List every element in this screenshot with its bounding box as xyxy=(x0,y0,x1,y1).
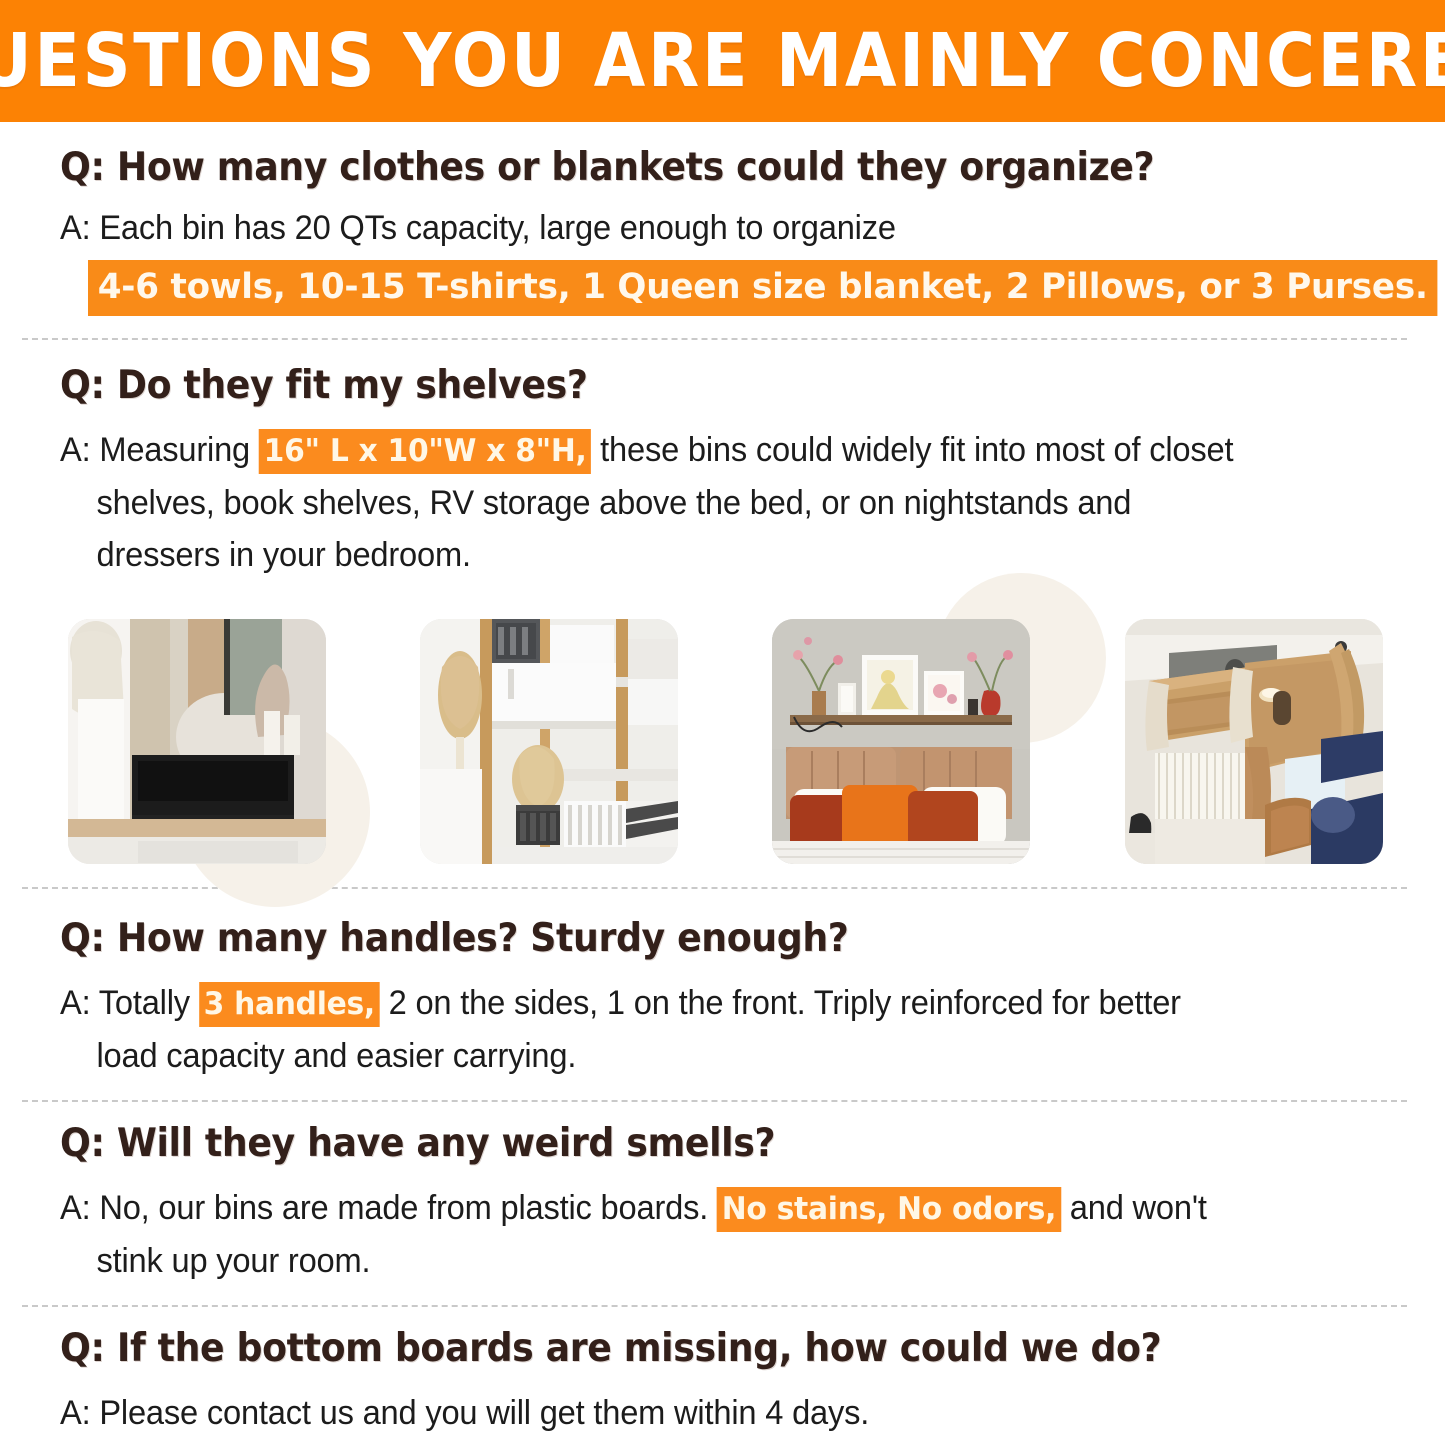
photo-bedroom-shelf-art xyxy=(772,619,1030,864)
faq-answer-shelves-post: these bins could widely fit into most of… xyxy=(591,431,1233,469)
faq-section-smells: Q: Will they have any weird smells? A: N… xyxy=(0,1120,1445,1287)
photo-bedroom-shelf xyxy=(772,619,1030,864)
photo-gallery xyxy=(0,597,1445,887)
faq-question-shelves: Q: Do they fit my shelves? xyxy=(60,362,1320,410)
faq-highlight-dimensions: 16" L x 10"W x 8"H, xyxy=(259,429,591,474)
faq-question-bottom-boards: Q: If the bottom boards are missing, how… xyxy=(60,1325,1320,1373)
faq-answer-shelves-line3: dressers in your bedroom. xyxy=(96,536,470,574)
faq-section-bottom-boards: Q: If the bottom boards are missing, how… xyxy=(0,1325,1445,1439)
photo-nightstand xyxy=(68,619,326,864)
faq-question-capacity: Q: How many clothes or blankets could th… xyxy=(60,144,1320,192)
faq-section-handles: Q: How many handles? Sturdy enough? A: T… xyxy=(0,915,1445,1082)
faq-answer-capacity-line1: A: Each bin has 20 QTs capacity, large e… xyxy=(60,202,1361,254)
faq-answer-shelves-pre: A: Measuring xyxy=(60,431,259,469)
page-title: QUESTIONS YOU ARE MAINLY CONCERED xyxy=(0,24,1445,98)
faq-section-capacity: Q: How many clothes or blankets could th… xyxy=(0,144,1445,316)
faq-section-shelves: Q: Do they fit my shelves? A: Measuring … xyxy=(0,362,1445,581)
faq-answer-handles-post: 2 on the sides, 1 on the front. Triply r… xyxy=(380,984,1181,1022)
photo-nightstand-art xyxy=(68,619,326,864)
photo-rv-storage-art xyxy=(1125,619,1383,864)
photo-ladder-shelf xyxy=(420,619,678,864)
faq-question-handles: Q: How many handles? Sturdy enough? xyxy=(60,915,1320,963)
faq-answer-shelves: A: Measuring 16" L x 10"W x 8"H, these b… xyxy=(60,424,1361,581)
faq-answer-smells: A: No, our bins are made from plastic bo… xyxy=(60,1182,1361,1287)
faq-answer-handles-pre: A: Totally xyxy=(60,984,199,1022)
faq-answer-handles: A: Totally 3 handles, 2 on the sides, 1 … xyxy=(60,977,1361,1082)
faq-answer-shelves-line2: shelves, book shelves, RV storage above … xyxy=(96,484,1131,522)
faq-highlight-no-odors: No stains, No odors, xyxy=(717,1187,1061,1232)
faq-answer-bottom-boards: A: Please contact us and you will get th… xyxy=(60,1387,1361,1439)
photo-ladder-shelf-art xyxy=(420,619,678,864)
faq-answer-smells-pre: A: No, our bins are made from plastic bo… xyxy=(60,1189,717,1227)
faq-highlight-capacity: 4-6 towls, 10-15 T-shirts, 1 Queen size … xyxy=(88,260,1437,316)
header-banner: QUESTIONS YOU ARE MAINLY CONCERED xyxy=(0,0,1445,122)
faq-question-smells: Q: Will they have any weird smells? xyxy=(60,1120,1320,1168)
faq-answer-handles-line2: load capacity and easier carrying. xyxy=(96,1037,576,1075)
faq-highlight-handles: 3 handles, xyxy=(199,982,380,1027)
faq-answer-smells-line2: stink up your room. xyxy=(96,1242,370,1280)
faq-answer-smells-post: and won't xyxy=(1061,1189,1207,1227)
photo-rv-storage xyxy=(1125,619,1383,864)
